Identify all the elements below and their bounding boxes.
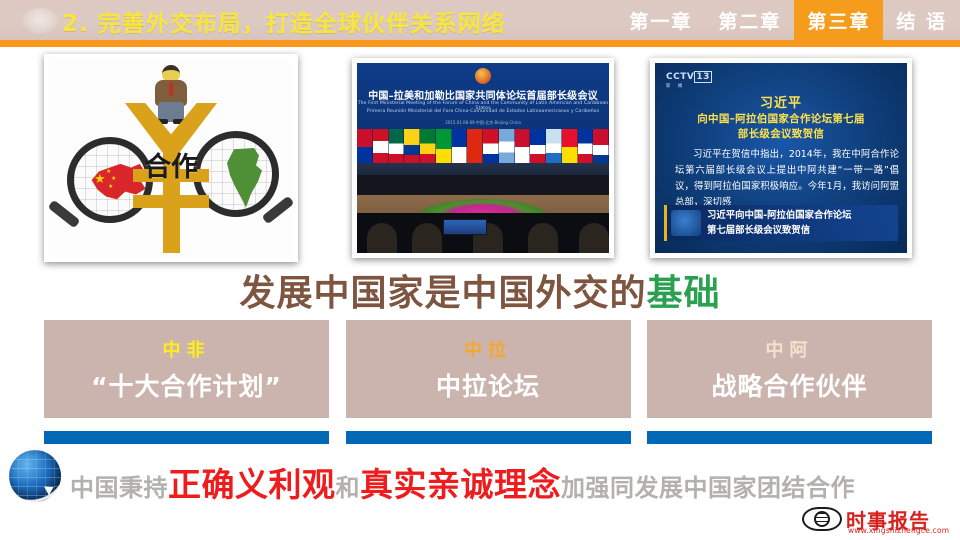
- card-body: 中非 “十大合作计划”: [44, 320, 329, 418]
- cctv-channel-name: CCTV: [666, 72, 694, 82]
- celac-title-es: Primera Reunión Ministerial del Foro Chi…: [357, 109, 609, 114]
- cctv-channel-sub: 新 闻: [666, 83, 712, 89]
- card-kicker: 中拉: [464, 336, 512, 362]
- yuan-symbol: 合作: [125, 103, 217, 253]
- news-station-badge: [671, 210, 701, 236]
- celac-date-line: 2015.01.08-09 中国·北京 Beijing China: [357, 120, 609, 126]
- cooperation-label: 合作: [125, 155, 217, 181]
- tab-conclusion[interactable]: 结 语: [883, 0, 960, 40]
- news-subtitle-line2: 部长级会议致贺信: [655, 126, 907, 141]
- headline-part-1: 发展中国家是中国外交的: [239, 273, 646, 314]
- cctv-channel-number: 13: [694, 71, 712, 83]
- forum-emblem-icon: [475, 68, 491, 84]
- card-title: 战略合作伙伴: [711, 367, 867, 403]
- footer-segment-2: 正确义利观: [168, 458, 336, 506]
- header-divider: [0, 40, 960, 47]
- card-underline-bar: [346, 431, 631, 444]
- footer-statement: 中国秉持 正确义利观 和 真实亲诚理念 加强同发展中国家团结合作: [70, 458, 960, 500]
- photo-china-africa-cooperation: ★★★★ 合作: [44, 54, 298, 262]
- desk-monitor: [443, 219, 487, 235]
- publisher-logo: 时事报告 www.xingshizhengce.com: [800, 504, 952, 536]
- footer-segment-1: 中国秉持: [70, 468, 168, 503]
- headline-part-2: 基础: [647, 273, 721, 314]
- news-headline-name: 习近平: [655, 92, 907, 111]
- celac-title-cn: 中国–拉美和加勒比国家共同体论坛首届部长级会议: [357, 87, 609, 102]
- card-underline-bar: [44, 431, 329, 444]
- card-title: “十大合作计划”: [91, 367, 282, 403]
- tab-chapter-3[interactable]: 第三章: [794, 0, 883, 40]
- footer-segment-5: 加强同发展中国家团结合作: [561, 468, 855, 503]
- partnership-cards: 中非 “十大合作计划” 中拉 中拉论坛 中阿 战略合作伙伴: [44, 320, 932, 446]
- national-flags-row: [357, 129, 609, 165]
- card-body: 中拉 中拉论坛: [346, 320, 631, 418]
- section-headline: 发展中国家是中国外交的基础: [0, 264, 960, 316]
- card-underline-bar: [647, 431, 932, 444]
- globe-icon: [4, 446, 66, 508]
- footer-segment-4: 真实亲诚理念: [360, 458, 561, 506]
- cctv-channel-logo: CCTV13 新 闻: [666, 72, 712, 89]
- logo-url: www.xingshizhengce.com: [848, 526, 949, 535]
- eye-globe-icon: [802, 507, 842, 531]
- news-subtitle-line1: 向中国–阿拉伯国家合作论坛第七届: [655, 111, 907, 126]
- footer-segment-3: 和: [336, 468, 361, 503]
- star-icon: ★: [22, 8, 58, 34]
- chapter-tabs: 第一章 第二章 第三章 结 语: [616, 0, 960, 40]
- photo-china-celac-forum: 中国–拉美和加勒比国家共同体论坛首届部长级会议 The First Minist…: [352, 58, 614, 258]
- news-body-text: 习近平在贺信中指出，2014年，我在中阿合作论坛第六届部长级会议上提出中阿共建“…: [675, 147, 899, 211]
- news-lower-third: 习近平向中国-阿拉伯国家合作论坛 第七届部长级会议致贺信: [664, 205, 898, 241]
- photo-cctv13-news: CCTV13 新 闻 习近平 向中国–阿拉伯国家合作论坛第七届 部长级会议致贺信…: [650, 58, 912, 258]
- card-title: 中拉论坛: [436, 367, 540, 403]
- card-china-arab[interactable]: 中阿 战略合作伙伴: [647, 320, 932, 446]
- card-china-latin-america[interactable]: 中拉 中拉论坛: [346, 320, 631, 446]
- card-kicker: 中阿: [766, 336, 814, 362]
- page-title: 2. 完善外交布局，打造全球伙伴关系网络: [62, 4, 506, 38]
- card-kicker: 中非: [163, 336, 211, 362]
- tab-chapter-2[interactable]: 第二章: [705, 0, 794, 40]
- ticker-line-1: 习近平向中国-阿拉伯国家合作论坛: [707, 208, 894, 223]
- conference-desk: [357, 175, 609, 197]
- ticker-line-2: 第七届部长级会议致贺信: [707, 223, 894, 238]
- card-china-africa[interactable]: 中非 “十大合作计划”: [44, 320, 329, 446]
- slide-header: ★ 2. 完善外交布局，打造全球伙伴关系网络 第一章 第二章 第三章 结 语: [0, 0, 960, 40]
- tab-chapter-1[interactable]: 第一章: [616, 0, 705, 40]
- card-body: 中阿 战略合作伙伴: [647, 320, 932, 418]
